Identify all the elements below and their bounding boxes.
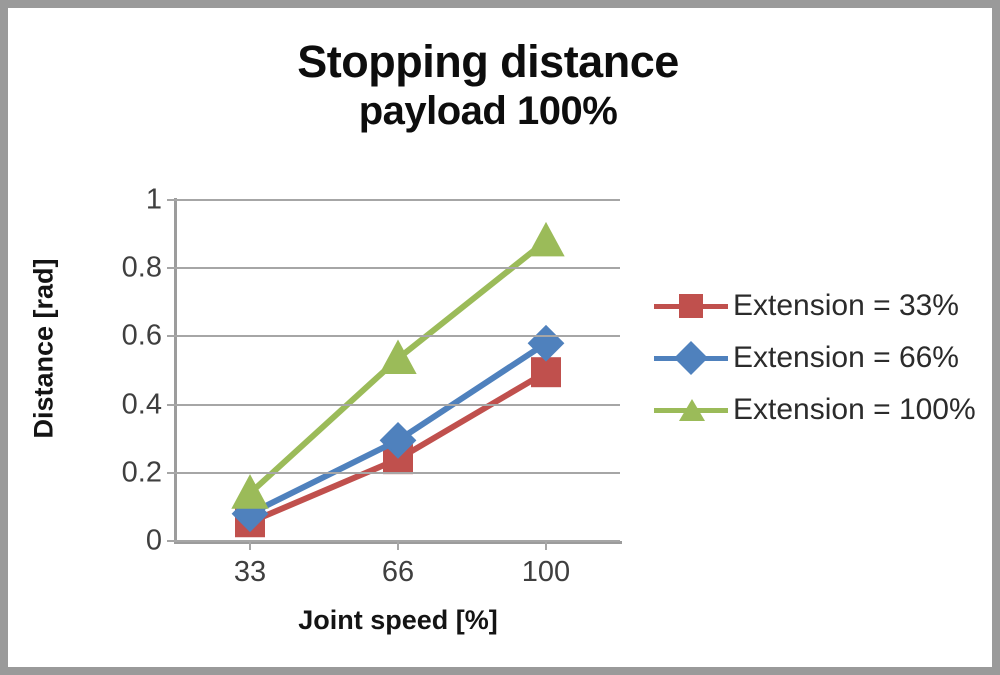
gridline	[176, 267, 620, 269]
legend-label: Extension = 33%	[733, 289, 959, 323]
x-axis-tick	[249, 541, 251, 550]
y-axis-tick	[167, 335, 176, 337]
y-axis-tick	[167, 267, 176, 269]
y-axis-title: Distance [rad]	[29, 249, 60, 449]
y-axis-tick-label: 0	[102, 525, 162, 558]
y-axis-tick-label: 0.8	[102, 252, 162, 285]
chart-frame: Stopping distance payload 100% Distance …	[0, 0, 1000, 675]
legend-label: Extension = 66%	[733, 341, 959, 375]
chart-title: Stopping distance payload 100%	[148, 36, 828, 135]
x-axis-tick-label: 33	[190, 556, 310, 589]
legend-key	[654, 343, 728, 373]
data-point-marker	[529, 326, 563, 360]
y-axis-tick	[167, 472, 176, 474]
y-axis-tick	[167, 404, 176, 406]
legend-item-1[interactable]: Extension = 33%	[654, 280, 994, 332]
x-axis-tick-label: 66	[338, 556, 458, 589]
plot-area	[176, 200, 620, 541]
square-marker-icon	[679, 294, 703, 318]
x-axis-tick-label: 100	[486, 556, 606, 589]
y-axis-tick-labels: 00.20.40.60.81	[98, 200, 162, 541]
triangle-marker-icon	[679, 399, 705, 421]
legend-label: Extension = 100%	[733, 393, 976, 427]
x-axis-tick	[545, 541, 547, 550]
chart-title-line1: Stopping distance	[148, 36, 828, 88]
x-axis-tick-labels: 3366100	[176, 556, 620, 596]
series-plot	[176, 200, 620, 541]
legend-key	[654, 395, 728, 425]
y-axis-tick-label: 0.6	[102, 320, 162, 353]
data-point-marker	[529, 224, 563, 255]
x-axis-tick	[397, 541, 399, 550]
diamond-marker-icon	[674, 341, 708, 375]
y-axis-tick-label: 0.4	[102, 388, 162, 421]
gridline	[176, 199, 620, 201]
legend-key	[654, 291, 728, 321]
y-axis-tick-label: 0.2	[102, 456, 162, 489]
gridline	[176, 335, 620, 337]
gridline	[176, 472, 620, 474]
y-axis-tick	[167, 199, 176, 201]
chart-legend: Extension = 33%Extension = 66%Extension …	[654, 280, 994, 436]
x-axis-title: Joint speed [%]	[176, 605, 620, 636]
chart-title-line2: payload 100%	[148, 88, 828, 134]
y-axis-tick	[167, 540, 176, 542]
legend-item-3[interactable]: Extension = 100%	[654, 384, 994, 436]
y-axis-tick-label: 1	[102, 184, 162, 217]
data-point-marker	[532, 358, 560, 386]
gridline	[176, 404, 620, 406]
legend-item-2[interactable]: Extension = 66%	[654, 332, 994, 384]
